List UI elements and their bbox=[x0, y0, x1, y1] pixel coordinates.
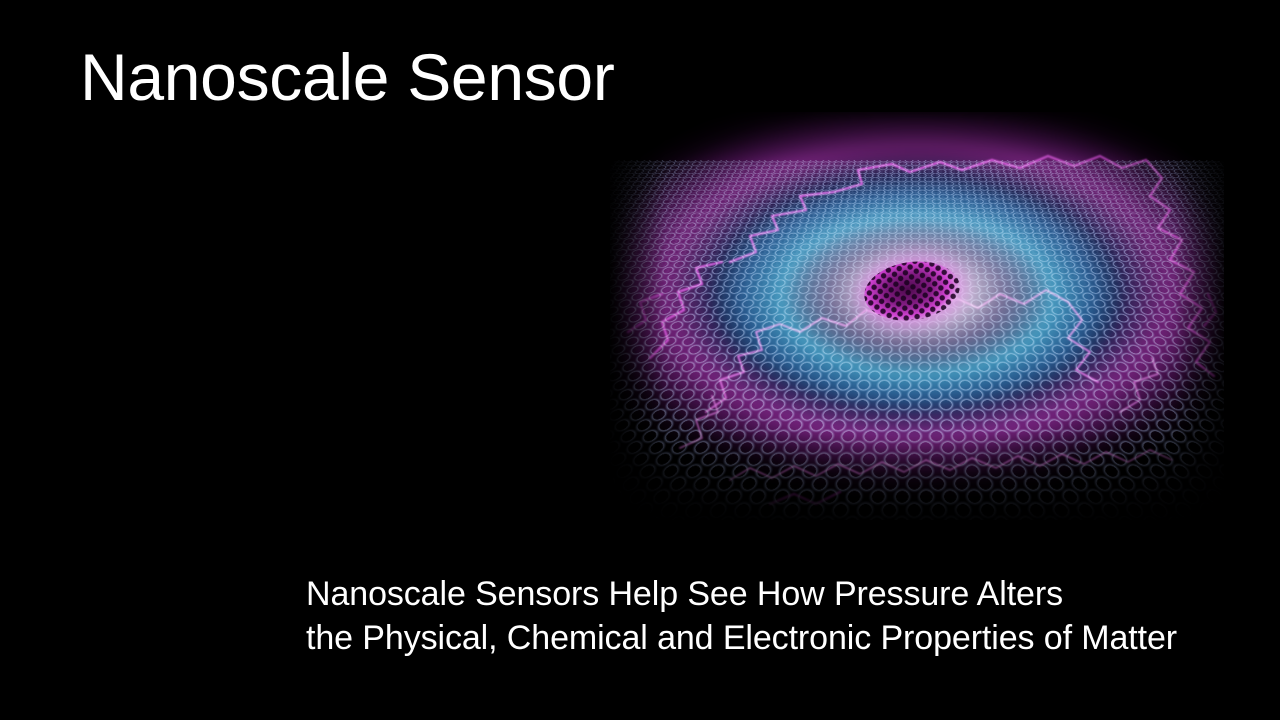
slide-canvas: Nanoscale Sensor Nanoscale Sensors Help … bbox=[0, 0, 1280, 720]
caption-line-1: Nanoscale Sensors Help See How Pressure … bbox=[306, 572, 1266, 616]
caption-line-2: the Physical, Chemical and Electronic Pr… bbox=[306, 616, 1266, 660]
nanoscale-sensor-photo bbox=[610, 112, 1224, 520]
image-caption: Nanoscale Sensors Help See How Pressure … bbox=[306, 572, 1266, 660]
page-title: Nanoscale Sensor bbox=[80, 44, 615, 110]
